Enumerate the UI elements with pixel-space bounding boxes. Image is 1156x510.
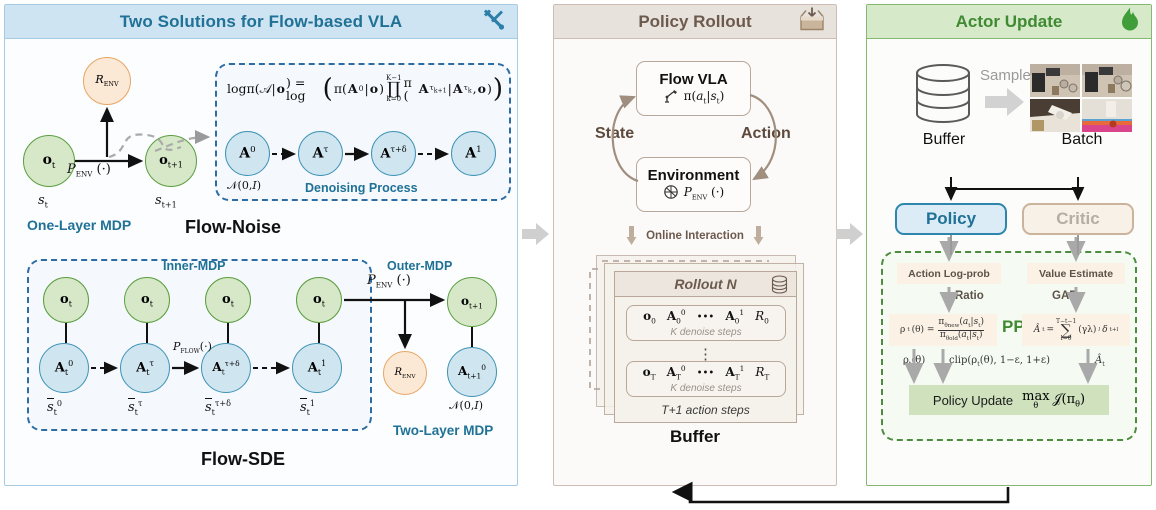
robot-arm-icon bbox=[663, 88, 679, 107]
rollout-card-front: Rollout N o0A00 ••• A01R0 K denoise step… bbox=[614, 271, 797, 423]
right-panel-header: Actor Update bbox=[867, 5, 1151, 39]
value-estimate-chip: Value Estimate bbox=[1027, 263, 1125, 284]
node-a-tau: Aτ bbox=[298, 131, 343, 176]
sample-group: Buffer Sample bbox=[867, 39, 1151, 184]
rollout-step-symbols-T: oTAT0 ••• AT1RT bbox=[643, 364, 770, 381]
rollout-step-row-T: oTAT0 ••• AT1RT K denoise steps bbox=[626, 361, 786, 397]
flow-vla-box: Flow VLA π(at|st) bbox=[636, 61, 751, 116]
node-sde-obs-2: ot bbox=[124, 277, 170, 323]
environment-formula: PENV (·) bbox=[663, 184, 724, 203]
batch-thumbnails bbox=[1030, 64, 1132, 131]
batch-thumb-3 bbox=[1030, 99, 1080, 132]
batch-thumb-4 bbox=[1082, 99, 1132, 132]
environment-title: Environment bbox=[648, 167, 740, 184]
node-sde-obs-1: ot bbox=[43, 277, 89, 323]
flow-vla-title: Flow VLA bbox=[659, 71, 727, 88]
node-sde-a-next: At+10 bbox=[447, 347, 497, 397]
gae-formula: Ât = T−t−1 ∑ l=0 (γλ)lδt+l bbox=[1022, 314, 1130, 346]
node-reward-env: RENV bbox=[83, 57, 131, 105]
node-sde-a-tau: Atτ bbox=[120, 343, 170, 393]
panel-actor-update: Actor Update Buffer Sample bbox=[866, 4, 1152, 486]
rollout-step-note-T: K denoise steps bbox=[670, 383, 741, 394]
node-a1: A1 bbox=[451, 131, 496, 176]
ratio-formula: ρt(θ) = πθnew(at|st) πθold(at|st) bbox=[889, 314, 997, 346]
node-sde-a-1: At1 bbox=[292, 343, 342, 393]
node-sde-obs-4: ot bbox=[296, 277, 342, 323]
database-icon bbox=[771, 275, 788, 297]
log-policy-equation: logπ(𝒜|o) = log ( π(A0|o) K−1 ∏ k=0 π (A… bbox=[227, 75, 503, 104]
buffer-database-icon bbox=[913, 64, 973, 131]
critic-box[interactable]: Critic bbox=[1022, 203, 1134, 235]
block-arrow-right-icon-sample bbox=[985, 87, 1025, 122]
caption-flow-noise: Flow-Noise bbox=[185, 217, 281, 238]
sample-label: Sample bbox=[980, 67, 1031, 84]
gae-label: GAE bbox=[1052, 290, 1077, 302]
state-label-st1: st+1 bbox=[155, 193, 177, 210]
arrow-middle-to-right bbox=[836, 222, 864, 251]
state-label-st: st bbox=[38, 193, 48, 210]
ppo-group: PPO Action Log-prob Value Estimate Ratio… bbox=[867, 233, 1151, 458]
rollout-step-row-0: o0A00 ••• A01R0 K denoise steps bbox=[626, 305, 786, 341]
prior-label-noise: 𝒩(0,I) bbox=[227, 179, 261, 193]
left-panel-header: Two Solutions for Flow-based VLA bbox=[5, 5, 517, 39]
ratio-label: Ratio bbox=[955, 290, 984, 302]
actor-buffer-label: Buffer bbox=[905, 131, 983, 149]
node-a-tau-delta: Aτ+δ bbox=[371, 131, 416, 176]
loop-label-state: State bbox=[595, 125, 634, 143]
online-interaction-label: Online Interaction bbox=[646, 230, 744, 242]
caption-two-layer-mdp: Two-Layer MDP bbox=[393, 423, 493, 438]
policy-box[interactable]: Policy bbox=[895, 203, 1007, 235]
panel-policy-rollout: Policy Rollout Flow VLA π bbox=[553, 4, 837, 486]
mid-panel-header: Policy Rollout bbox=[554, 5, 836, 39]
transition-penv-label: PENV (·) bbox=[67, 162, 111, 179]
batch-thumb-1 bbox=[1030, 64, 1080, 97]
node-obs-t-next: ot+1 bbox=[145, 135, 197, 187]
rollout-footer: T+1 action steps bbox=[661, 403, 749, 417]
rollout-step-note-0: K denoise steps bbox=[670, 327, 741, 338]
outer-transition-penv-label: PENV (·) bbox=[367, 273, 411, 290]
rho-branch-label: ρt(θ) bbox=[903, 355, 925, 368]
tools-icon bbox=[481, 6, 507, 37]
clip-branch-label: clip(ρt(θ), 1−ε, 1+ε) bbox=[949, 355, 1050, 368]
inner-state-0: st0 bbox=[47, 399, 62, 417]
loop-label-action: Action bbox=[741, 125, 791, 143]
inner-state-tau: stτ bbox=[128, 399, 142, 417]
policy-update-label: Policy Update bbox=[933, 393, 1013, 408]
node-obs-t: ot bbox=[23, 135, 75, 187]
globe-icon bbox=[663, 184, 679, 203]
batch-thumb-2 bbox=[1082, 64, 1132, 97]
critic-label: Critic bbox=[1056, 209, 1099, 229]
inner-state-tau-delta: stτ+δ bbox=[205, 399, 231, 417]
node-sde-obs-next: ot+1 bbox=[447, 277, 497, 327]
panel-two-solutions: Two Solutions for Flow-based VLA ot ot+1… bbox=[4, 4, 518, 486]
down-arrow-icon-left bbox=[626, 226, 637, 246]
advantage-branch-label: Ât bbox=[1095, 355, 1105, 368]
caption-one-layer-mdp: One-Layer MDP bbox=[27, 217, 131, 233]
prior-label-sde: 𝒩(0,I) bbox=[449, 399, 483, 413]
rollout-card-title: Rollout N bbox=[674, 276, 736, 292]
node-sde-obs-3: ot bbox=[205, 277, 251, 323]
mid-panel-title: Policy Rollout bbox=[638, 12, 751, 32]
policy-label: Policy bbox=[926, 209, 976, 229]
left-panel-title: Two Solutions for Flow-based VLA bbox=[120, 12, 402, 32]
rollout-loop-group: Flow VLA π(at|st) Environment bbox=[554, 39, 836, 224]
flow-noise-group: ot ot+1 RENV st st+1 PENV (·) One-Layer … bbox=[5, 39, 517, 249]
arrow-left-to-middle bbox=[522, 222, 550, 251]
node-a0: A0 bbox=[225, 131, 270, 176]
rollout-card-header: Rollout N bbox=[615, 272, 796, 297]
inbox-icon bbox=[798, 6, 826, 37]
policy-update-formula: maxθ 𝒥(πθ) bbox=[1022, 391, 1085, 410]
action-logprob-chip: Action Log-prob bbox=[897, 263, 1001, 284]
policy-critic-group: Policy Critic bbox=[867, 175, 1151, 235]
environment-box: Environment PENV (·) bbox=[636, 157, 751, 212]
node-sde-a-0: At0 bbox=[39, 343, 89, 393]
inner-state-1: st1 bbox=[300, 399, 315, 417]
node-sde-reward-env: RENV bbox=[383, 351, 427, 395]
policy-update-box: Policy Update maxθ 𝒥(πθ) bbox=[909, 385, 1109, 415]
caption-inner-mdp: Inner-MDP bbox=[163, 259, 226, 273]
down-arrow-icon-right bbox=[753, 226, 764, 246]
batch-label: Batch bbox=[1039, 131, 1125, 149]
buffer-rollout-stack: Rollout N o0A00 ••• A01R0 K denoise step… bbox=[554, 249, 836, 449]
caption-flow-sde: Flow-SDE bbox=[201, 449, 285, 470]
caption-denoising-process: Denoising Process bbox=[305, 181, 418, 195]
right-panel-title: Actor Update bbox=[956, 12, 1063, 32]
flow-sde-group: Inner-MDP Outer-MDP ot ot ot ot ot+1 At0… bbox=[5, 251, 517, 485]
flame-icon bbox=[1119, 6, 1141, 37]
rollout-step-symbols-0: o0A00 ••• A01R0 bbox=[643, 308, 769, 325]
transition-pflow-label: PFLOW(·) bbox=[173, 340, 212, 355]
online-interaction-row: Online Interaction bbox=[554, 225, 836, 247]
buffer-label: Buffer bbox=[670, 427, 720, 447]
caption-outer-mdp: Outer-MDP bbox=[387, 259, 452, 273]
flow-vla-formula: π(at|st) bbox=[663, 88, 725, 107]
